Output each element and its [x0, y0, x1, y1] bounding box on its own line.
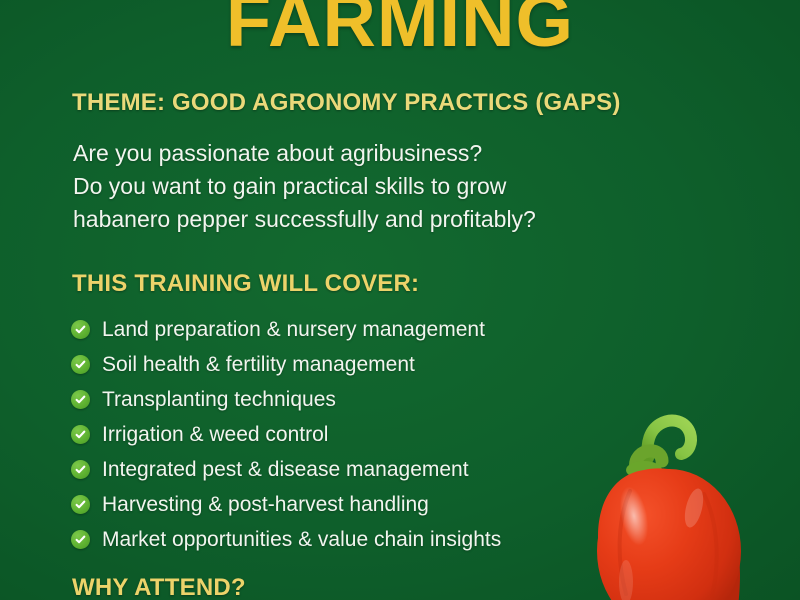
- why-attend-heading: WHY ATTEND?: [72, 573, 246, 600]
- list-item: Irrigation & weed control: [71, 417, 731, 452]
- check-circle-icon: [71, 390, 90, 409]
- list-item-label: Land preparation & nursery management: [102, 317, 485, 343]
- list-item-label: Market opportunities & value chain insig…: [102, 527, 501, 553]
- check-circle-icon: [71, 495, 90, 514]
- check-circle-icon: [71, 355, 90, 374]
- poster-theme-line: THEME: GOOD AGRONOMY PRACTICS (GAPS): [72, 88, 621, 118]
- check-circle-icon: [71, 425, 90, 444]
- list-item: Transplanting techniques: [71, 382, 731, 417]
- check-circle-icon: [71, 530, 90, 549]
- poster-title: FARMING: [0, 0, 800, 64]
- intro-line: habanero pepper successfully and profita…: [73, 203, 713, 236]
- list-item: Market opportunities & value chain insig…: [71, 522, 731, 557]
- intro-line: Do you want to gain practical skills to …: [73, 170, 713, 203]
- list-item: Land preparation & nursery management: [71, 312, 731, 347]
- intro-paragraph: Are you passionate about agribusiness? D…: [73, 137, 713, 236]
- list-item-label: Soil health & fertility management: [102, 352, 415, 378]
- list-item-label: Transplanting techniques: [102, 387, 336, 413]
- training-covers-heading: THIS TRAINING WILL COVER:: [72, 269, 419, 299]
- check-circle-icon: [71, 460, 90, 479]
- check-circle-icon: [71, 320, 90, 339]
- list-item: Integrated pest & disease management: [71, 452, 731, 487]
- poster-canvas: FARMING THEME: GOOD AGRONOMY PRACTICS (G…: [0, 0, 800, 600]
- training-covers-list: Land preparation & nursery management So…: [71, 312, 731, 557]
- list-item: Harvesting & post-harvest handling: [71, 487, 731, 522]
- list-item-label: Integrated pest & disease management: [102, 457, 469, 483]
- list-item-label: Irrigation & weed control: [102, 422, 328, 448]
- list-item: Soil health & fertility management: [71, 347, 731, 382]
- list-item-label: Harvesting & post-harvest handling: [102, 492, 429, 518]
- intro-line: Are you passionate about agribusiness?: [73, 137, 713, 170]
